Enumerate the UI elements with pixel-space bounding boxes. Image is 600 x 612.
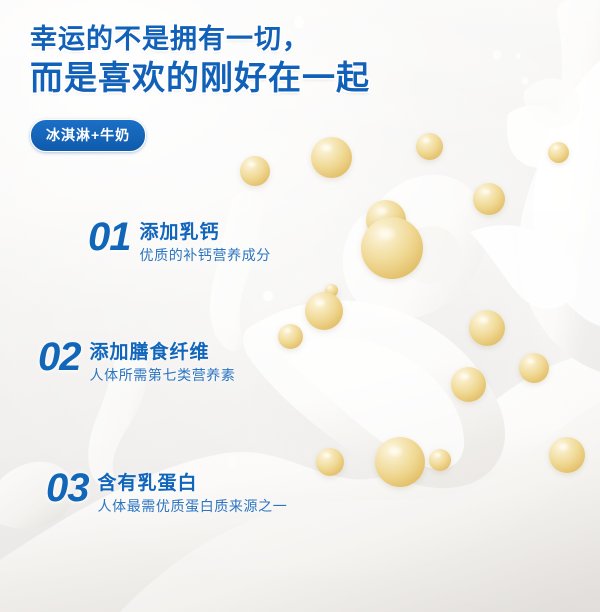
gold-sphere — [451, 367, 486, 402]
headline: 幸运的不是拥有一切， 而是喜欢的刚好在一起 — [30, 24, 370, 98]
feature-item-02: 02 添加膳食纤维 人体所需第七类营养素 — [38, 339, 236, 384]
feature-number: 01 — [88, 219, 131, 257]
gold-sphere — [473, 183, 505, 215]
feature-title: 添加膳食纤维 — [90, 342, 236, 364]
gold-sphere — [375, 437, 425, 487]
feature-title: 添加乳钙 — [140, 222, 271, 244]
promo-poster: 幸运的不是拥有一切， 而是喜欢的刚好在一起 冰淇淋+牛奶 01 添加乳钙 优质的… — [0, 0, 600, 612]
gold-sphere — [311, 137, 352, 178]
gold-sphere — [305, 292, 343, 330]
feature-subtitle: 人体所需第七类营养素 — [90, 367, 236, 385]
gold-sphere — [361, 217, 423, 279]
headline-line-2: 而是喜欢的刚好在一起 — [30, 59, 370, 97]
headline-line-1: 幸运的不是拥有一切， — [30, 24, 370, 55]
feature-subtitle: 人体最需优质蛋白质来源之一 — [98, 498, 288, 516]
gold-sphere — [416, 133, 443, 160]
gold-sphere — [548, 142, 569, 163]
gold-sphere — [316, 448, 344, 476]
feature-item-01: 01 添加乳钙 优质的补钙营养成分 — [88, 219, 271, 264]
feature-title: 含有乳蛋白 — [98, 473, 288, 495]
feature-subtitle: 优质的补钙营养成分 — [140, 247, 271, 265]
gold-sphere — [240, 156, 270, 186]
gold-sphere — [469, 310, 505, 346]
gold-sphere — [278, 324, 303, 349]
gold-sphere — [549, 437, 585, 473]
gold-sphere — [429, 449, 451, 471]
flavor-badge: 冰淇淋+牛奶 — [30, 119, 146, 152]
feature-number: 02 — [38, 339, 81, 377]
feature-number: 03 — [46, 470, 89, 508]
feature-item-03: 03 含有乳蛋白 人体最需优质蛋白质来源之一 — [46, 470, 287, 515]
gold-sphere — [519, 353, 549, 383]
